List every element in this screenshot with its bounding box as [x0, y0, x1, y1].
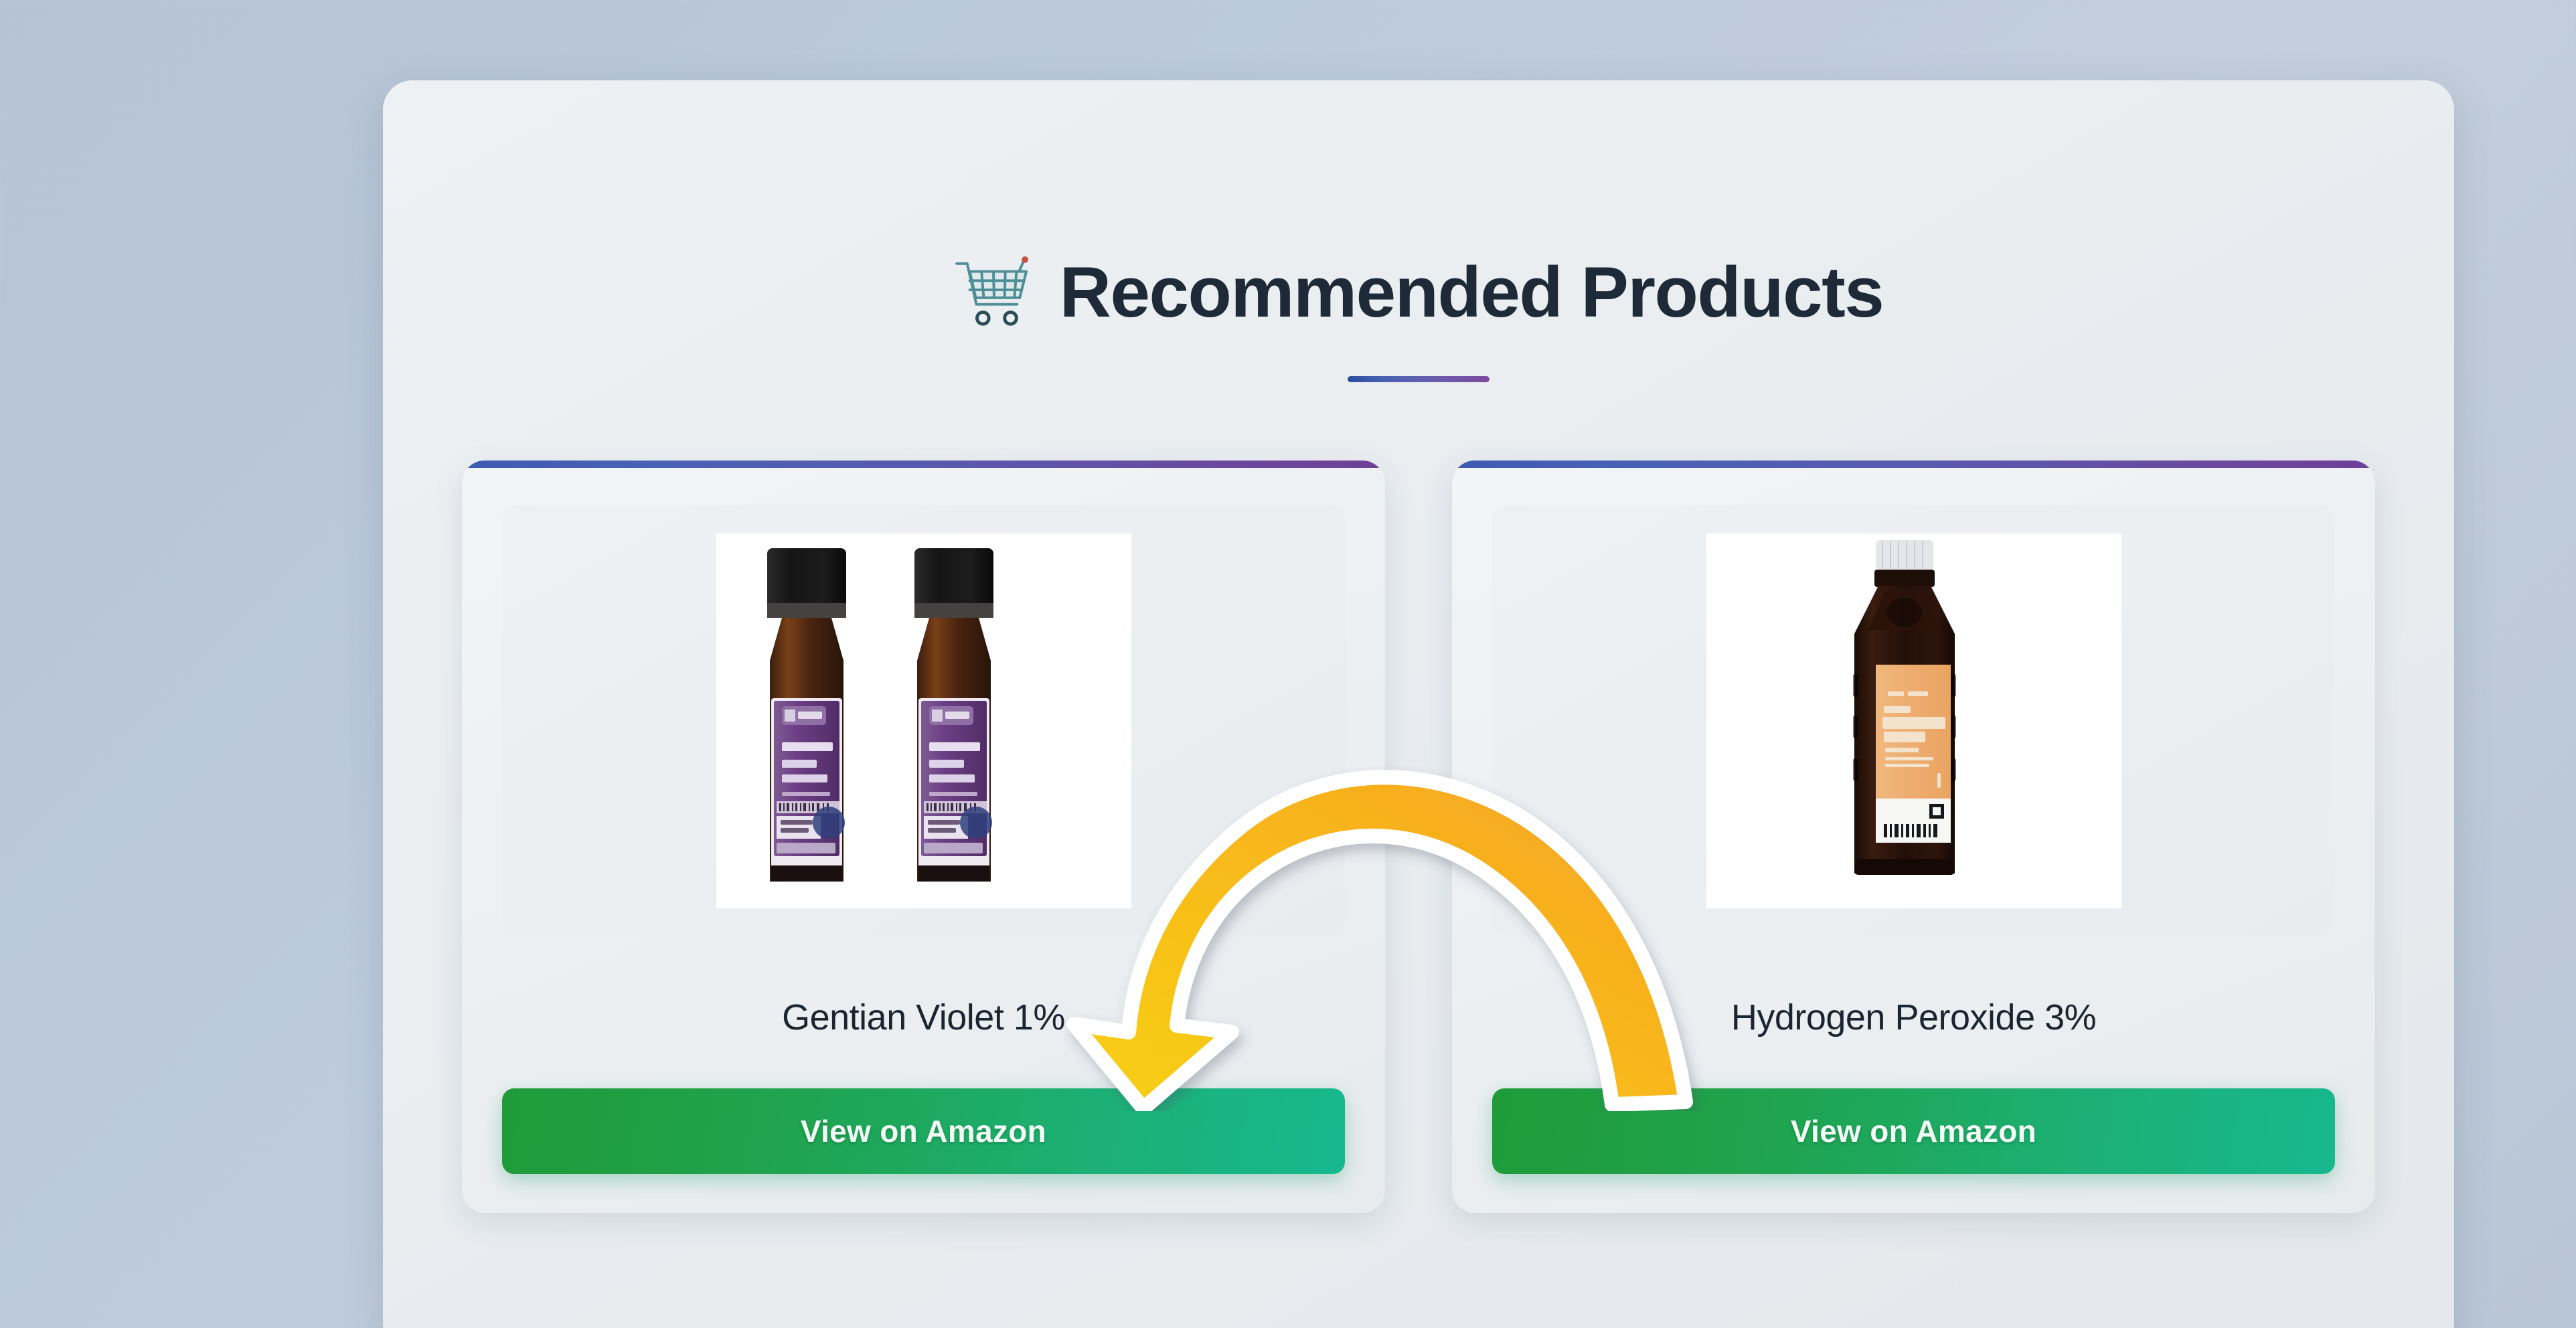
hydrogen-peroxide-bottle-image	[1706, 533, 2121, 908]
product-image-box	[1492, 505, 2335, 936]
product-card[interactable]: Hydrogen Peroxide 3% View on Amazon	[1452, 461, 2375, 1213]
product-card-grid: Gentian Violet 1% View on Amazon	[462, 461, 2375, 1213]
shopping-cart-icon	[954, 256, 1033, 328]
panel-header: Recommended Products	[383, 80, 2454, 382]
view-on-amazon-button[interactable]: View on Amazon	[1492, 1088, 2335, 1174]
product-image-box	[502, 505, 1345, 936]
recommended-products-panel: Recommended Products	[383, 80, 2454, 1328]
view-on-amazon-button[interactable]: View on Amazon	[502, 1088, 1345, 1174]
title-row: Recommended Products	[383, 256, 2454, 328]
product-title: Hydrogen Peroxide 3%	[1492, 998, 2335, 1037]
card-accent-bar	[462, 461, 1385, 468]
title-divider	[1348, 376, 1490, 382]
product-title: Gentian Violet 1%	[502, 998, 1345, 1037]
page-title: Recommended Products	[1060, 256, 1884, 328]
product-card[interactable]: Gentian Violet 1% View on Amazon	[462, 461, 1385, 1213]
card-accent-bar	[1452, 461, 2375, 468]
gentian-violet-bottles-image	[716, 533, 1131, 908]
